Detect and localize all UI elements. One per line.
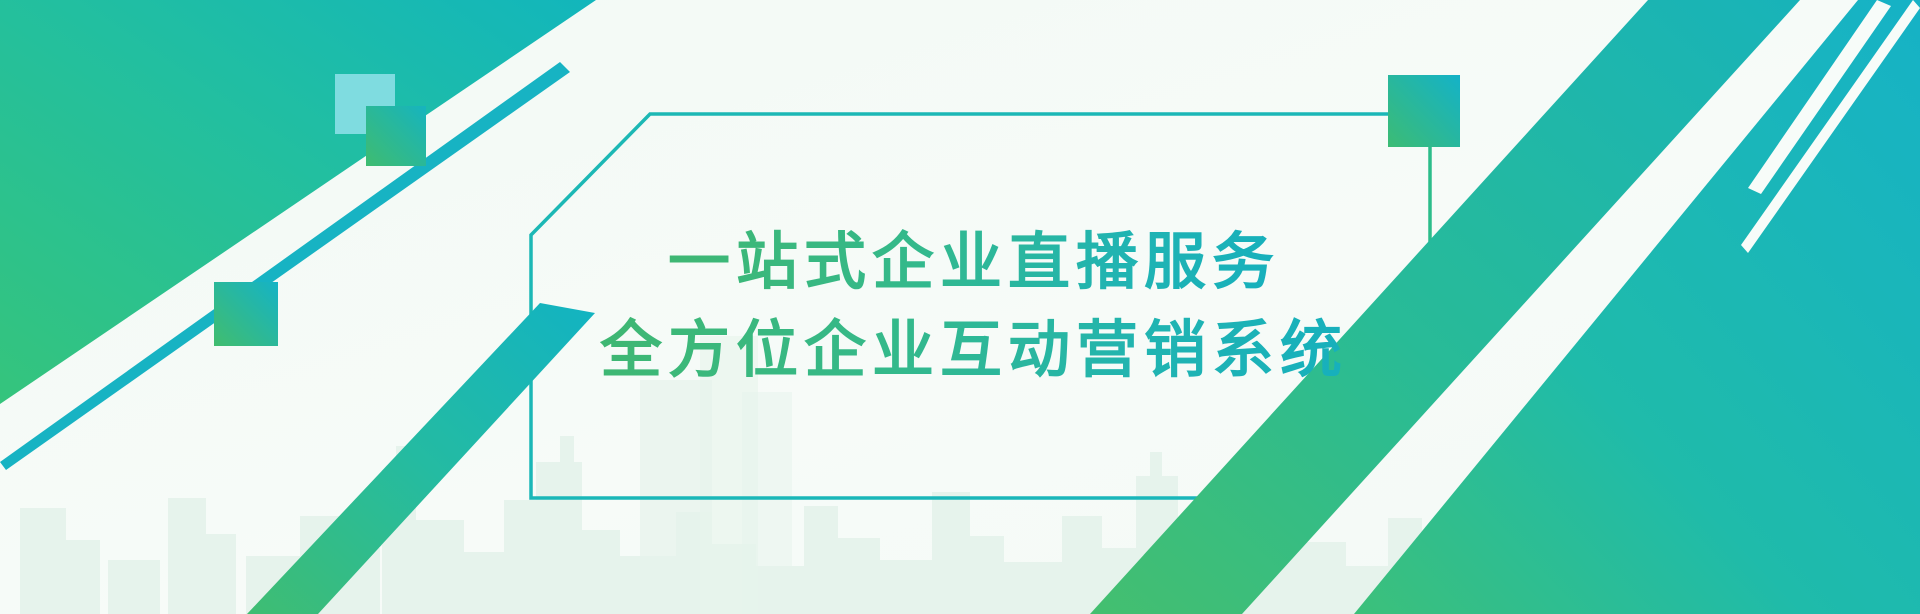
decorative-square-green-left (214, 282, 278, 346)
decorative-square-frame-anchor (1388, 75, 1460, 147)
banner-background (0, 0, 1920, 614)
decorative-square-green-teal (366, 106, 426, 166)
promo-banner: 一站式企业直播服务 全方位企业互动营销系统 (0, 0, 1920, 614)
